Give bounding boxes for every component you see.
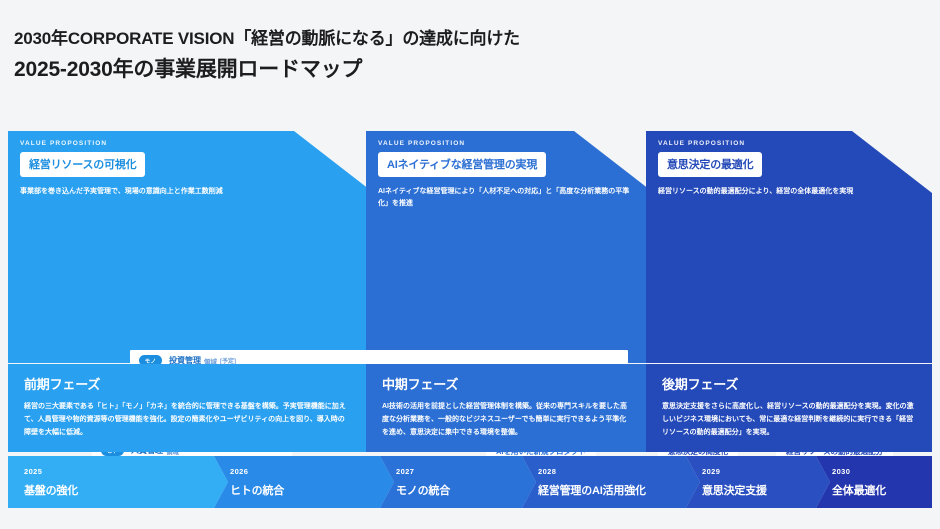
title-line-2: 2025-2030年の事業展開ロードマップ: [14, 55, 520, 84]
phase-late: 後期フェーズ 意思決定支援をさらに高度化し、経営リソースの動的最適配分を実現。変…: [646, 364, 932, 452]
phase-desc-mid: AI技術の活用を前提とした経営管理体制を構築。従来の専門スキルを要した高度な分析…: [382, 401, 630, 440]
phase-title-early: 前期フェーズ: [24, 374, 350, 393]
phase-early: 前期フェーズ 経営の三大要素である「ヒト」「モノ」「カネ」を統合的に管理できる基…: [8, 364, 366, 452]
page-title: 2030年CORPORATE VISION「経営の動脈になる」の達成に向けた 2…: [14, 28, 520, 84]
phase-section: 前期フェーズ 経営の三大要素である「ヒト」「モノ」「カネ」を統合的に管理できる基…: [8, 364, 932, 452]
phase-title-mid: 中期フェーズ: [382, 374, 630, 393]
timeline-year-2030: 2030: [832, 467, 932, 476]
timeline-year-2027: 2027: [396, 467, 536, 476]
phase-desc-late: 意思決定支援をさらに高度化し、経営リソースの動的最適配分を実現。変化の激しいビジ…: [662, 401, 916, 440]
capability-rows: モノ 投資管理 領域 [予定] モノ 資産管理 領域 [予定] モノ 施策管理 …: [8, 131, 932, 363]
phase-mid: 中期フェーズ AI技術の活用を前提とした経営管理体制を構築。従来の専門スキルを要…: [366, 364, 646, 452]
timeline-year-2026: 2026: [230, 467, 394, 476]
phase-title-late: 後期フェーズ: [662, 374, 916, 393]
timeline-segment-2029: 2029 意思決定支援: [686, 456, 830, 508]
timeline-segment-2030: 2030 全体最適化: [816, 456, 932, 508]
timeline-label-2025: 基盤の強化: [24, 482, 228, 498]
timeline-label-2026: ヒトの統合: [230, 482, 394, 498]
title-line-1: 2030年CORPORATE VISION「経営の動脈になる」の達成に向けた: [14, 28, 520, 51]
timeline-label-2030: 全体最適化: [832, 482, 932, 498]
timeline: 2025 基盤の強化 2026 ヒトの統合 2027 モノの統合 2028 経営…: [8, 456, 932, 508]
timeline-segment-2027: 2027 モノの統合: [380, 456, 536, 508]
timeline-label-2027: モノの統合: [396, 482, 536, 498]
roadmap-slide: 2030年CORPORATE VISION「経営の動脈になる」の達成に向けた 2…: [0, 0, 940, 529]
timeline-year-2028: 2028: [538, 467, 700, 476]
timeline-segment-2028: 2028 経営管理のAI活用強化: [522, 456, 700, 508]
phase-desc-early: 経営の三大要素である「ヒト」「モノ」「カネ」を統合的に管理できる基盤を構築。予実…: [24, 401, 350, 440]
roadmap-diagram: VALUE PROPOSITION 経営リソースの可視化 事業部を巻き込んだ予実…: [8, 131, 932, 363]
timeline-segment-2026: 2026 ヒトの統合: [214, 456, 394, 508]
timeline-label-2028: 経営管理のAI活用強化: [538, 482, 700, 498]
timeline-segment-2025: 2025 基盤の強化: [8, 456, 228, 508]
timeline-year-2029: 2029: [702, 467, 830, 476]
timeline-label-2029: 意思決定支援: [702, 482, 830, 498]
timeline-year-2025: 2025: [24, 467, 228, 476]
